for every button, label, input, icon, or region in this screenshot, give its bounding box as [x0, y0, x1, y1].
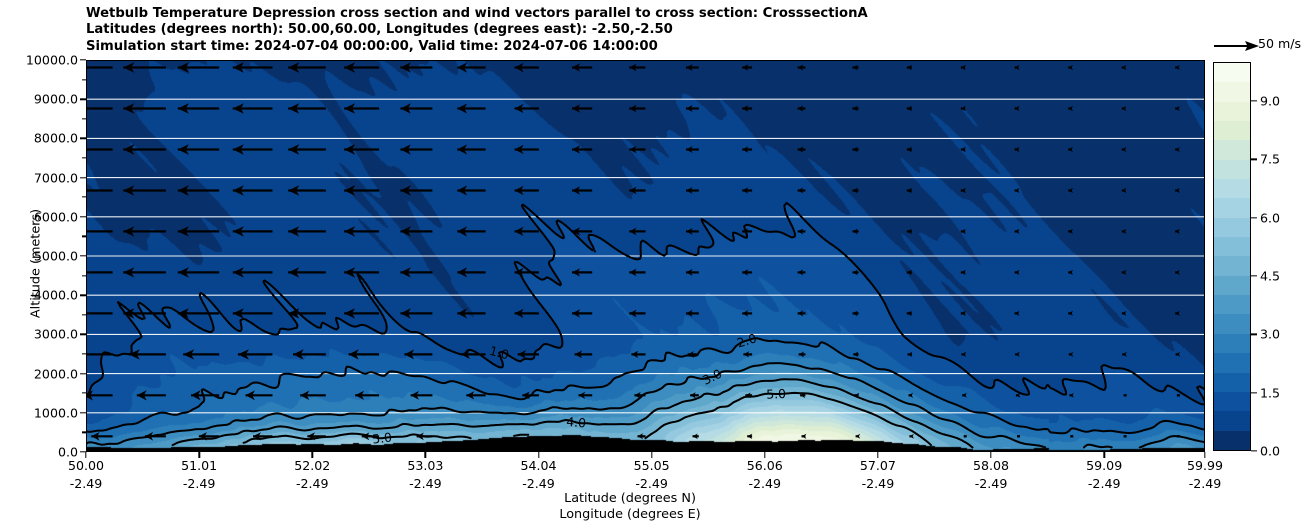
contour-line — [514, 435, 528, 436]
x-tick-label-longitude: -2.49 — [748, 476, 781, 491]
wind-vector-head — [1015, 229, 1020, 234]
wind-vector — [1124, 394, 1127, 396]
colorbar-tick-mark — [1251, 450, 1257, 451]
colorbar-segment — [1214, 392, 1250, 411]
x-tick-label-latitude: 59.99 — [1187, 458, 1223, 473]
wind-vector-head — [1016, 393, 1021, 398]
wind-vector — [964, 435, 967, 437]
x-tick-label-latitude: 54.04 — [520, 458, 556, 473]
wind-vector-head — [1175, 229, 1180, 234]
wind-vector-head — [1175, 270, 1180, 275]
y-tick-minor — [82, 157, 86, 158]
x-tick-label-latitude: 57.07 — [860, 458, 896, 473]
wind-vector-head — [1122, 188, 1127, 193]
x-tick-label-longitude: -2.49 — [409, 476, 442, 491]
colorbar-tick-mark — [1251, 217, 1257, 218]
wind-vector-head — [1068, 188, 1073, 193]
colorbar-segment — [1214, 82, 1250, 101]
y-tick-mark — [80, 294, 86, 295]
colorbar-segment — [1214, 256, 1250, 275]
y-tick-mark — [80, 412, 86, 413]
wind-vector-head — [802, 434, 807, 439]
colorbar-segment — [1214, 102, 1250, 121]
wind-vector — [1177, 394, 1180, 396]
y-tick-label: 6000.0 — [34, 209, 78, 224]
title-line-1: Wetbulb Temperature Depression cross sec… — [86, 6, 1186, 22]
wind-vector-head — [1015, 147, 1020, 152]
contour-line — [1140, 436, 1205, 447]
colorbar-tick-mark — [1251, 275, 1257, 276]
x-tick-label-longitude: -2.49 — [1088, 476, 1121, 491]
contour-label: 4.0 — [563, 414, 590, 431]
colorbar-segment — [1214, 237, 1250, 256]
cross-section-figure: Wetbulb Temperature Depression cross sec… — [0, 0, 1312, 526]
colorbar-segment — [1214, 314, 1250, 333]
y-tick-minor — [82, 79, 86, 80]
figure-title-block: Wetbulb Temperature Depression cross sec… — [86, 6, 1186, 55]
colorbar-segment — [1214, 198, 1250, 217]
colorbar-tick-label: 3.0 — [1260, 327, 1280, 342]
wind-vector-head — [961, 352, 966, 357]
wind-vector-head — [1122, 229, 1127, 234]
x-tick-label-latitude: 51.01 — [181, 458, 217, 473]
wind-vector-head — [1068, 106, 1073, 111]
wind-vector-head — [1175, 311, 1180, 316]
x-tick-label-longitude: -2.49 — [70, 476, 103, 491]
contour-label: 5.0 — [368, 429, 396, 447]
wind-vector-head — [1068, 229, 1073, 234]
y-tick-label: 2000.0 — [34, 366, 78, 381]
y-tick-minor — [82, 393, 86, 394]
quiver-key-label: 50 m/s — [1258, 36, 1301, 51]
wind-vector-head — [1015, 311, 1020, 316]
y-tick-mark — [80, 255, 86, 256]
svg-text:1.0: 1.0 — [488, 343, 511, 362]
title-line-3: Simulation start time: 2024-07-04 00:00:… — [86, 39, 1186, 55]
title-line-2: Latitudes (degrees north): 50.00,60.00, … — [86, 22, 1186, 38]
x-tick-label-latitude: 53.03 — [407, 458, 443, 473]
wind-vector-head — [1015, 106, 1020, 111]
colorbar-tick-label: 0.0 — [1260, 444, 1280, 459]
x-tick-label-longitude: -2.49 — [522, 476, 555, 491]
colorbar-tick-mark — [1251, 100, 1257, 101]
colorbar-tick-label: 4.5 — [1260, 268, 1280, 283]
svg-text:4.0: 4.0 — [566, 414, 587, 431]
y-tick-label: 8000.0 — [34, 131, 78, 146]
wind-vector-head — [1069, 352, 1074, 357]
x-tick-label-longitude: -2.49 — [862, 476, 895, 491]
wind-vector-head — [1068, 311, 1073, 316]
colorbar-segment — [1214, 179, 1250, 198]
wind-vector — [1070, 435, 1073, 437]
x-axis-label-latitude: Latitude (degrees N) — [0, 491, 1260, 506]
y-tick-minor — [82, 197, 86, 198]
y-tick-label: 9000.0 — [34, 92, 78, 107]
x-tick-label-latitude: 52.02 — [294, 458, 330, 473]
x-tick-label-longitude: -2.49 — [183, 476, 216, 491]
wind-vector-head — [1122, 147, 1127, 152]
colorbar-segment — [1214, 353, 1250, 372]
wind-vector-head — [1068, 270, 1073, 275]
contour-line-layer: 1.02.03.04.05.05.0 — [86, 60, 1205, 452]
x-tick-label-latitude: 50.00 — [68, 458, 104, 473]
x-tick-label-longitude: -2.49 — [975, 476, 1008, 491]
wind-vector-head — [909, 434, 914, 439]
colorbar — [1213, 62, 1251, 451]
y-tick-label: 7000.0 — [34, 170, 78, 185]
wind-vector-head — [1068, 147, 1073, 152]
colorbar-tick-label: 9.0 — [1260, 93, 1280, 108]
wind-vector-head — [1069, 393, 1074, 398]
y-tick-mark — [80, 216, 86, 217]
wind-vector-head — [1175, 65, 1180, 70]
colorbar-segment — [1214, 373, 1250, 392]
colorbar-segment — [1214, 140, 1250, 159]
x-tick-label-latitude: 59.09 — [1086, 458, 1122, 473]
wind-vector-head — [1122, 311, 1127, 316]
wind-vector-head — [856, 434, 861, 439]
colorbar-tick-label: 1.5 — [1260, 385, 1280, 400]
y-tick-minor — [82, 118, 86, 119]
colorbar-segment — [1214, 121, 1250, 140]
x-tick-label-latitude: 58.08 — [973, 458, 1009, 473]
contour-label: 5.0 — [763, 386, 790, 402]
wind-vector-head — [1175, 147, 1180, 152]
y-tick-minor — [82, 314, 86, 315]
wind-vector — [1124, 435, 1127, 437]
y-tick-mark — [80, 138, 86, 139]
colorbar-tick-label: 6.0 — [1260, 210, 1280, 225]
x-tick-label-longitude: -2.49 — [296, 476, 329, 491]
wind-vector-head — [1122, 352, 1127, 357]
colorbar-segment — [1214, 63, 1250, 82]
colorbar-segment — [1214, 295, 1250, 314]
plot-area: 1.02.03.04.05.05.0 — [86, 60, 1205, 452]
colorbar-segment — [1214, 160, 1250, 179]
wind-vector-head — [1122, 65, 1127, 70]
wind-vector-head — [1015, 65, 1020, 70]
svg-text:2.0: 2.0 — [735, 330, 758, 350]
x-tick-label-latitude: 55.05 — [634, 458, 670, 473]
colorbar-segment — [1214, 218, 1250, 237]
contour-label: 2.0 — [732, 329, 761, 351]
contour-line — [1084, 445, 1112, 448]
wind-vector-head — [1015, 352, 1020, 357]
colorbar-tick-mark — [1251, 392, 1257, 393]
x-tick-label-latitude: 56.06 — [747, 458, 783, 473]
svg-text:3.0: 3.0 — [700, 366, 724, 388]
y-tick-label: 5000.0 — [34, 249, 78, 264]
colorbar-segment — [1214, 431, 1250, 450]
wind-vector-head — [1176, 352, 1181, 357]
x-axis-label-longitude: Longitude (degrees E) — [0, 507, 1260, 522]
colorbar-segment — [1214, 411, 1250, 430]
x-tick-label-longitude: -2.49 — [635, 476, 668, 491]
wind-vector-head — [1015, 188, 1020, 193]
y-tick-label: 3000.0 — [34, 327, 78, 342]
colorbar-segment — [1214, 276, 1250, 295]
y-tick-label: 4000.0 — [34, 288, 78, 303]
y-tick-label: 10000.0 — [26, 53, 78, 68]
colorbar-segment — [1214, 334, 1250, 353]
y-tick-minor — [82, 353, 86, 354]
colorbar-tick-mark — [1251, 159, 1257, 160]
wind-vector-head — [1175, 188, 1180, 193]
wind-vector — [1017, 435, 1020, 437]
y-tick-mark — [80, 334, 86, 335]
wind-vector-head — [1122, 106, 1127, 111]
colorbar-tick-label: 7.5 — [1260, 152, 1280, 167]
y-tick-mark — [80, 177, 86, 178]
contour-line — [86, 203, 1205, 404]
wind-vector-head — [1015, 270, 1020, 275]
contour-line — [1197, 386, 1205, 402]
y-tick-minor — [82, 432, 86, 433]
y-tick-mark — [80, 98, 86, 99]
y-tick-minor — [82, 236, 86, 237]
y-tick-mark — [80, 373, 86, 374]
y-tick-label: 1000.0 — [34, 405, 78, 420]
wind-vector-head — [1175, 106, 1180, 111]
y-tick-mark — [80, 59, 86, 60]
wind-vector-head — [909, 393, 914, 398]
contour-line — [244, 434, 471, 443]
wind-vector — [1177, 435, 1180, 437]
colorbar-tick-mark — [1251, 334, 1257, 335]
x-tick-label-longitude: -2.49 — [1189, 476, 1222, 491]
y-tick-minor — [82, 275, 86, 276]
svg-text:5.0: 5.0 — [766, 386, 786, 402]
wind-vector-head — [1122, 270, 1127, 275]
contour-label: 3.0 — [697, 364, 727, 389]
svg-text:5.0: 5.0 — [371, 429, 392, 446]
wind-vector-head — [1068, 65, 1073, 70]
wind-vector-head — [962, 393, 967, 398]
